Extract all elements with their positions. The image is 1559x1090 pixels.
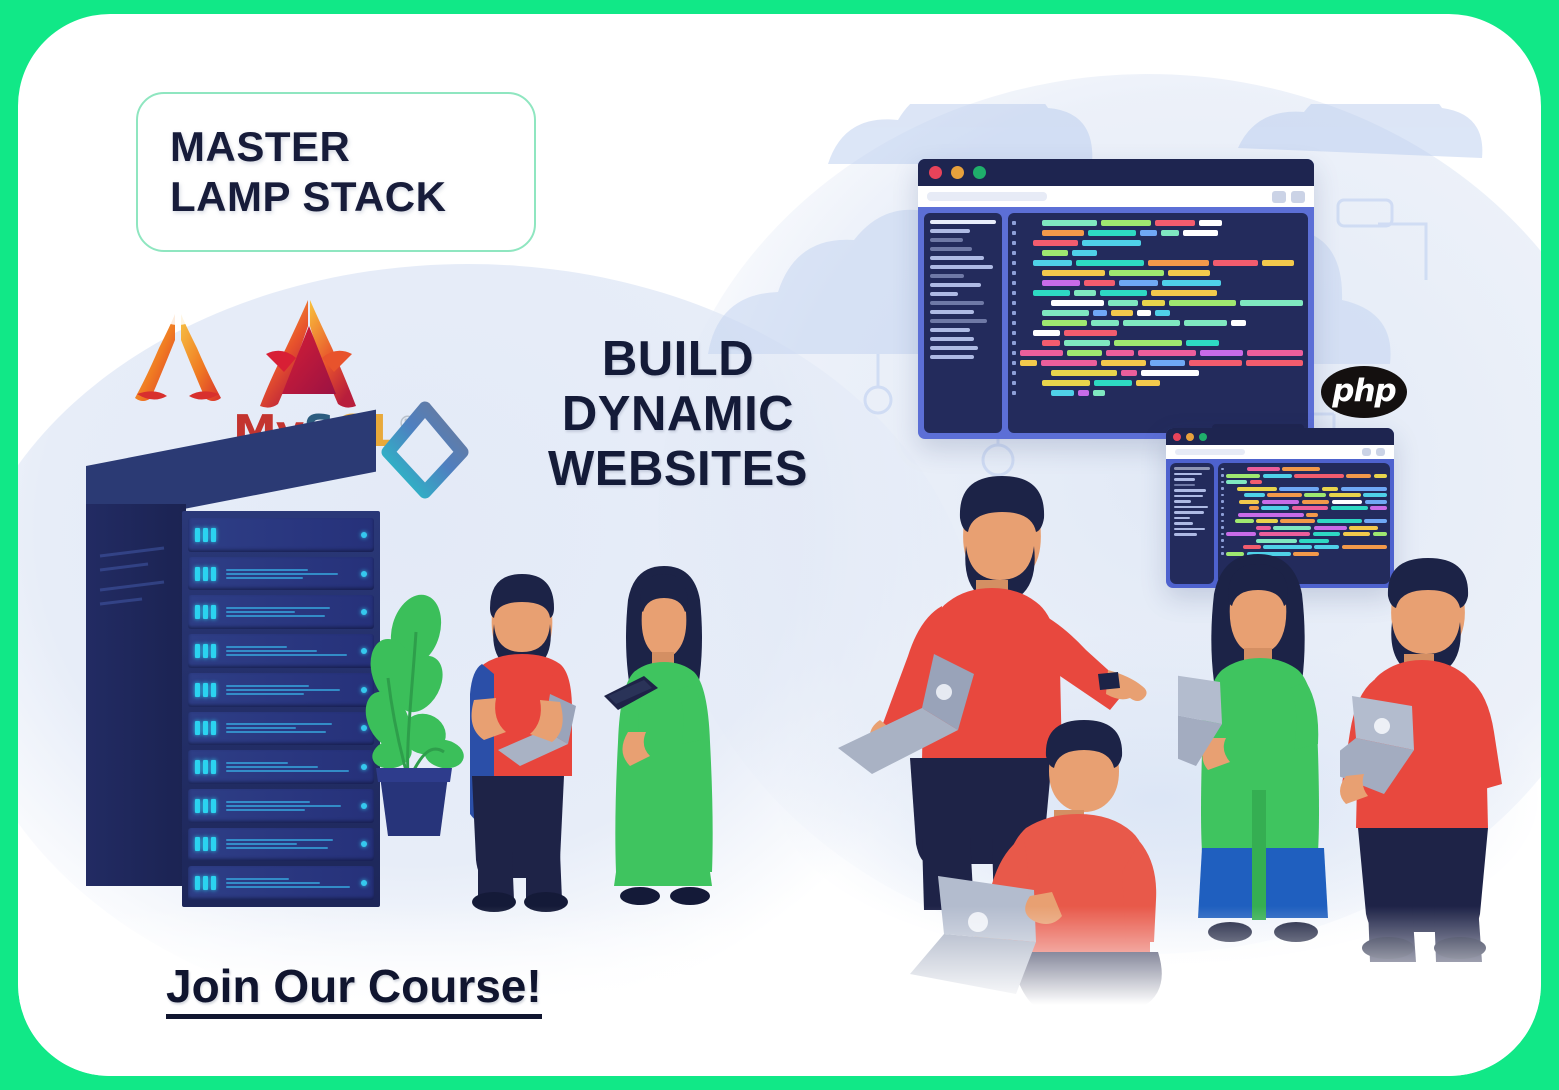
code-line (1221, 467, 1387, 471)
headline: BUILD DYNAMIC WEBSITES (468, 332, 888, 497)
code-token (1331, 506, 1368, 510)
code-token (1292, 506, 1328, 510)
server-activity-bar (226, 843, 297, 845)
server-rack-front (182, 511, 380, 907)
file-tree-item[interactable] (1174, 528, 1205, 531)
server-activity-bar (226, 650, 317, 652)
server-activity-bar (226, 839, 333, 841)
student-man-with-laptop (456, 552, 586, 912)
potted-plant (358, 592, 468, 852)
server-status-light (361, 532, 367, 538)
server-rack-unit (188, 866, 374, 900)
server-led (195, 721, 200, 735)
code-token (1374, 474, 1387, 478)
linux-diamond-logo (380, 400, 470, 500)
poster-card: MASTER LAMP STACK (18, 14, 1541, 1076)
code-token (1084, 280, 1115, 286)
file-tree-item[interactable] (930, 274, 964, 278)
tab-pill[interactable] (1175, 449, 1245, 455)
code-token (1101, 360, 1146, 366)
code-token (1200, 350, 1243, 356)
maximize-icon[interactable] (973, 166, 986, 179)
server-rack-unit (188, 712, 374, 746)
file-tree-item[interactable] (930, 292, 958, 296)
code-line (1012, 370, 1303, 376)
code-token (1111, 310, 1133, 316)
server-led (195, 760, 200, 774)
code-line (1012, 320, 1303, 326)
server-activity-bar (226, 646, 287, 648)
code-token (1106, 350, 1134, 356)
close-icon[interactable] (1173, 433, 1181, 441)
line-number (1012, 311, 1016, 315)
server-activity-bar (226, 569, 308, 571)
line-number (1012, 281, 1016, 285)
code-token (1256, 526, 1271, 530)
code-token (1246, 360, 1303, 366)
apache-feather-logo-alt (248, 296, 368, 414)
poster-background: MASTER LAMP STACK (0, 0, 1559, 1090)
file-tree-item[interactable] (930, 238, 963, 242)
line-number (1221, 468, 1224, 471)
code-token (1250, 480, 1262, 484)
code-token (1329, 493, 1361, 497)
server-led (211, 799, 216, 813)
line-number (1012, 351, 1016, 355)
line-number (1012, 271, 1016, 275)
file-tree-item[interactable] (1174, 484, 1195, 487)
join-course-cta[interactable]: Join Our Course! (166, 962, 542, 1019)
window-tabbar[interactable] (918, 186, 1314, 207)
file-tree-item[interactable] (930, 310, 974, 314)
server-rack-unit (188, 750, 374, 784)
code-token (1119, 280, 1158, 286)
code-line (1012, 310, 1303, 316)
server-activity-bar (226, 685, 309, 687)
minimize-icon[interactable] (1186, 433, 1194, 441)
code-token (1150, 360, 1186, 366)
server-led (203, 605, 208, 619)
line-number (1012, 241, 1016, 245)
code-line (1012, 280, 1303, 286)
code-token (1042, 320, 1087, 326)
code-token (1161, 230, 1179, 236)
file-tree-item[interactable] (930, 301, 984, 305)
server-activity-bar (226, 847, 328, 849)
code-line (1221, 519, 1387, 523)
code-token (1261, 506, 1289, 510)
code-token (1093, 390, 1105, 396)
code-token (1072, 250, 1097, 256)
code-token (1094, 380, 1132, 386)
code-line (1012, 360, 1303, 366)
code-token (1302, 500, 1329, 504)
code-token (1148, 260, 1209, 266)
server-activity-bars (226, 723, 358, 733)
code-token (1256, 519, 1277, 523)
code-token (1341, 487, 1387, 491)
server-led (203, 837, 208, 851)
server-activity-bar (226, 886, 350, 888)
code-token (1042, 380, 1090, 386)
code-line (1221, 474, 1387, 478)
server-led (203, 528, 208, 542)
file-tree-item[interactable] (930, 247, 972, 251)
code-line (1012, 330, 1303, 336)
server-led (203, 876, 208, 890)
server-rack-unit (188, 557, 374, 591)
file-tree-item[interactable] (930, 337, 974, 341)
code-token (1155, 310, 1170, 316)
code-token (1213, 260, 1258, 266)
code-token (1042, 220, 1097, 226)
server-activity-bars (226, 878, 358, 888)
code-line (1221, 500, 1387, 504)
server-led (203, 567, 208, 581)
code-token (1343, 532, 1371, 536)
line-number (1012, 251, 1016, 255)
line-number (1221, 507, 1224, 510)
server-rack-unit (188, 518, 374, 552)
code-token (1244, 493, 1265, 497)
server-led (203, 683, 208, 697)
code-line (1012, 220, 1303, 226)
code-token (1162, 280, 1221, 286)
code-token (1183, 230, 1218, 236)
server-led (211, 567, 216, 581)
code-token (1033, 330, 1060, 336)
line-number (1012, 221, 1016, 225)
tab-actions[interactable] (1362, 448, 1385, 456)
line-number (1012, 371, 1016, 375)
code-token (1267, 493, 1302, 497)
file-tree-item[interactable] (1174, 533, 1197, 536)
code-token (1306, 513, 1318, 517)
server-activity-bar (226, 689, 340, 691)
php-logo: php (1321, 366, 1407, 418)
headline-line-2: DYNAMIC (468, 387, 888, 442)
server-activity-bar (226, 882, 320, 884)
code-token (1064, 330, 1117, 336)
code-line (1221, 506, 1387, 510)
server-led (195, 683, 200, 697)
code-token (1346, 474, 1371, 478)
line-number (1221, 533, 1224, 536)
code-line (1221, 532, 1387, 536)
code-token (1114, 340, 1182, 346)
code-token (1051, 370, 1117, 376)
server-activity-bar (226, 878, 289, 880)
code-line (1012, 390, 1303, 396)
code-token (1273, 526, 1311, 530)
code-token (1064, 340, 1110, 346)
server-activity-bar (226, 577, 303, 579)
server-activity-bars (226, 646, 358, 656)
code-token (1091, 320, 1119, 326)
server-activity-bar (226, 573, 338, 575)
server-activity-bar (226, 611, 295, 613)
window-body (918, 207, 1314, 439)
code-token (1033, 240, 1078, 246)
server-rack-unit (188, 789, 374, 823)
code-editor-window[interactable] (918, 159, 1314, 439)
server-led (211, 721, 216, 735)
server-led (211, 876, 216, 890)
file-tree-item[interactable] (1174, 473, 1202, 476)
code-token (1123, 320, 1180, 326)
server-activity-bar (226, 727, 296, 729)
server-activity-bars (226, 607, 358, 617)
maximize-icon[interactable] (1199, 433, 1207, 441)
server-rack-unit (188, 828, 374, 862)
server-led (195, 605, 200, 619)
file-tree-item[interactable] (930, 283, 981, 287)
code-line (1012, 230, 1303, 236)
code-line (1012, 260, 1303, 266)
code-token (1109, 270, 1164, 276)
window-titlebar (918, 159, 1314, 186)
split-view-icon[interactable] (1272, 191, 1286, 203)
code-line (1221, 513, 1387, 517)
code-token (1226, 480, 1247, 484)
code-line (1012, 350, 1303, 356)
window-titlebar-2 (1166, 428, 1394, 445)
code-token (1226, 532, 1256, 536)
code-token (1184, 320, 1227, 326)
server-activity-bars (226, 569, 358, 579)
server-activity-bar (226, 607, 330, 609)
server-led (195, 876, 200, 890)
code-token (1042, 310, 1089, 316)
server-activity-bars (226, 801, 358, 811)
code-token (1033, 290, 1070, 296)
file-tree-item[interactable] (930, 328, 970, 332)
headline-line-3: WEBSITES (468, 442, 888, 497)
code-token (1082, 240, 1141, 246)
line-number (1221, 487, 1224, 490)
line-number (1012, 231, 1016, 235)
file-tree-item[interactable] (930, 256, 984, 260)
code-line (1012, 380, 1303, 386)
server-led (195, 644, 200, 658)
panel-toggle-icon[interactable] (1291, 191, 1305, 203)
code-token (1100, 290, 1147, 296)
server-rack (86, 466, 386, 886)
code-token (1067, 350, 1102, 356)
code-line (1012, 270, 1303, 276)
code-token (1237, 487, 1277, 491)
tab-pill[interactable] (927, 192, 1047, 201)
code-token (1364, 519, 1387, 523)
code-token (1199, 220, 1222, 226)
line-number (1221, 494, 1224, 497)
server-led (195, 528, 200, 542)
window-tabbar-2[interactable] (1166, 445, 1394, 459)
code-token (1020, 360, 1037, 366)
code-line (1221, 493, 1387, 497)
server-led (211, 644, 216, 658)
server-activity-bar (226, 615, 325, 617)
code-line (1012, 240, 1303, 246)
server-led (211, 528, 216, 542)
line-number (1012, 341, 1016, 345)
code-token (1231, 320, 1246, 326)
code-token (1169, 300, 1236, 306)
code-token (1151, 290, 1217, 296)
headline-line-1: BUILD (468, 332, 888, 387)
code-token (1282, 467, 1320, 471)
code-token (1141, 370, 1199, 376)
code-token (1033, 260, 1072, 266)
server-activity-bar (226, 766, 318, 768)
file-tree-item[interactable] (930, 229, 970, 233)
title-line-1: MASTER (170, 122, 534, 172)
code-line (1221, 487, 1387, 491)
file-tree-item[interactable] (930, 220, 996, 224)
line-number (1012, 321, 1016, 325)
server-activity-bar (226, 805, 341, 807)
server-rack-unit (188, 595, 374, 629)
code-editor-area[interactable] (1008, 213, 1308, 433)
minimize-icon[interactable] (951, 166, 964, 179)
server-led (195, 567, 200, 581)
code-token (1365, 500, 1387, 504)
code-token (1247, 467, 1280, 471)
code-line (1012, 300, 1303, 306)
line-number (1012, 331, 1016, 335)
student-man-right-laptop (1340, 544, 1510, 964)
code-token (1317, 519, 1361, 523)
file-tree-item[interactable] (1174, 506, 1208, 509)
code-token (1042, 230, 1084, 236)
line-number (1012, 261, 1016, 265)
server-activity-bar (226, 723, 332, 725)
code-token (1101, 220, 1151, 226)
code-token (1074, 290, 1096, 296)
server-activity-bar (226, 693, 304, 695)
server-activity-bar (226, 731, 326, 733)
student-woman-green-kurta (1178, 542, 1348, 962)
server-activity-bar (226, 809, 305, 811)
server-led (211, 605, 216, 619)
code-token (1304, 493, 1326, 497)
code-line (1012, 250, 1303, 256)
apache-feather-logo (123, 306, 233, 411)
line-number (1012, 381, 1016, 385)
code-token (1363, 493, 1387, 497)
code-token (1332, 500, 1363, 504)
file-tree-item[interactable] (1174, 522, 1193, 525)
server-activity-bar (226, 801, 310, 803)
line-number (1012, 361, 1016, 365)
code-token (1051, 390, 1074, 396)
file-tree-item[interactable] (1174, 495, 1203, 498)
code-line (1221, 480, 1387, 484)
line-number (1221, 513, 1224, 516)
code-token (1294, 474, 1344, 478)
title-line-2: LAMP STACK (170, 172, 534, 222)
server-activity-bars (226, 839, 358, 849)
server-led (203, 721, 208, 735)
panel-toggle-icon[interactable] (1376, 448, 1385, 456)
code-token (1240, 300, 1304, 306)
file-tree-item[interactable] (930, 265, 993, 269)
code-token (1279, 487, 1319, 491)
code-line (1221, 526, 1387, 530)
file-tree-item[interactable] (1174, 489, 1206, 492)
code-token (1349, 526, 1378, 530)
code-token (1108, 300, 1138, 306)
code-token (1238, 513, 1304, 517)
server-led (211, 760, 216, 774)
file-tree-item[interactable] (1174, 511, 1204, 514)
file-explorer-sidebar[interactable] (924, 213, 1002, 433)
line-number (1012, 291, 1016, 295)
file-tree-item[interactable] (930, 319, 987, 323)
code-token (1322, 487, 1338, 491)
code-token (1370, 506, 1387, 510)
file-tree-item[interactable] (1174, 478, 1195, 481)
line-number (1221, 520, 1224, 523)
code-token (1313, 532, 1341, 536)
server-activity-bars (226, 685, 358, 695)
code-token (1186, 340, 1219, 346)
code-token (1078, 390, 1089, 396)
server-led (211, 683, 216, 697)
file-tree-item[interactable] (1174, 517, 1190, 520)
code-token (1041, 360, 1097, 366)
server-status-light (361, 880, 367, 886)
close-icon[interactable] (929, 166, 942, 179)
code-token (1168, 270, 1210, 276)
code-token (1121, 370, 1137, 376)
file-tree-item[interactable] (1174, 467, 1210, 470)
file-tree-item[interactable] (930, 346, 978, 350)
code-token (1249, 506, 1259, 510)
code-line (1012, 340, 1303, 346)
server-led (195, 799, 200, 813)
tab-actions[interactable] (1272, 191, 1305, 203)
code-token (1247, 350, 1304, 356)
code-token (1140, 230, 1157, 236)
line-number (1221, 481, 1224, 484)
line-number (1012, 301, 1016, 305)
server-activity-bar (226, 654, 347, 656)
code-token (1259, 532, 1311, 536)
code-token (1088, 230, 1136, 236)
title-box: MASTER LAMP STACK (136, 92, 536, 252)
code-token (1373, 532, 1387, 536)
code-token (1262, 500, 1300, 504)
server-status-light (361, 571, 367, 577)
server-led (203, 799, 208, 813)
code-token (1137, 310, 1151, 316)
server-rack-side (86, 504, 186, 886)
code-token (1189, 360, 1242, 366)
code-token (1235, 519, 1253, 523)
file-tree-item[interactable] (1174, 500, 1191, 503)
code-token (1262, 260, 1294, 266)
server-led (203, 760, 208, 774)
code-token (1051, 300, 1105, 306)
line-number (1221, 526, 1224, 529)
split-view-icon[interactable] (1362, 448, 1371, 456)
code-token (1239, 500, 1259, 504)
server-rack-unit (188, 634, 374, 668)
php-logo-label: php (1332, 373, 1395, 409)
code-token (1042, 270, 1105, 276)
file-tree-item[interactable] (930, 355, 974, 359)
